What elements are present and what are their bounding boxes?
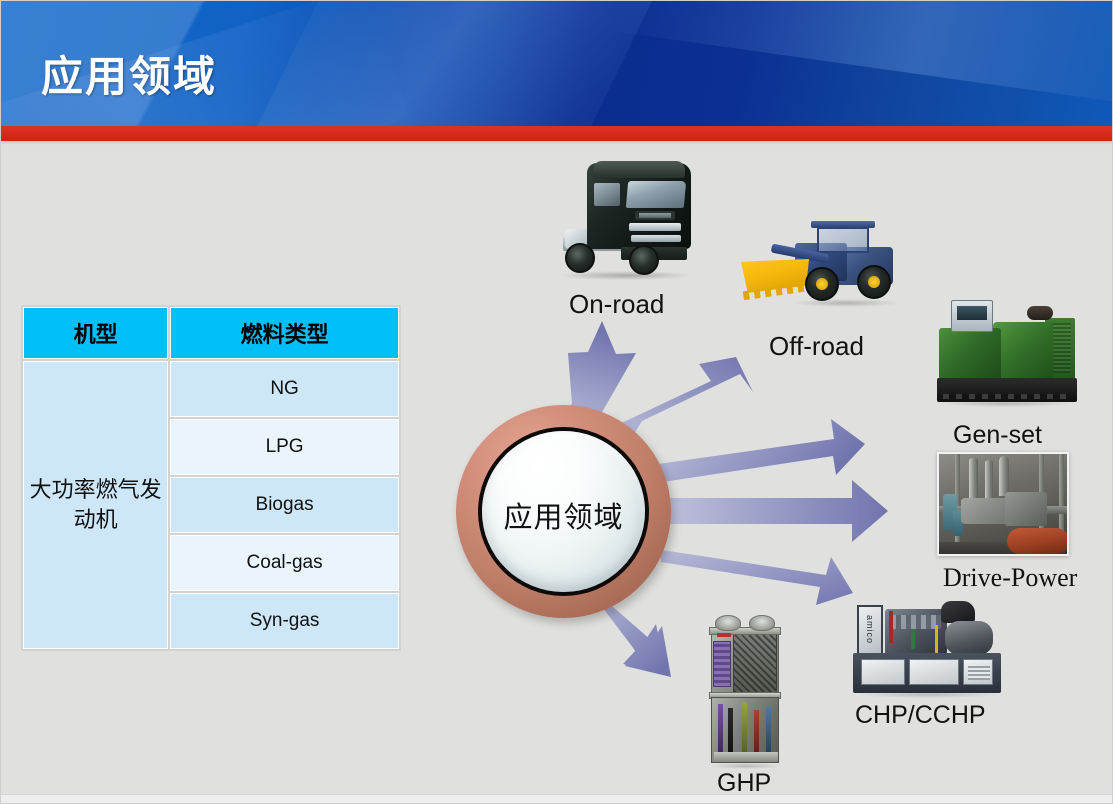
arrow-to-gen-set — [658, 419, 865, 487]
ghp-component-3 — [742, 702, 747, 754]
chp-panel-3 — [963, 659, 993, 685]
genset-alternator — [939, 328, 1001, 380]
cell-fuel-lpg: LPG — [170, 419, 399, 475]
genset-engine — [993, 322, 1053, 380]
chp-control-cabinet — [857, 605, 883, 655]
arrow-to-chp-cchp — [659, 539, 853, 605]
loader-wheel-front — [805, 267, 839, 301]
slide-canvas: 应用领域 机型 燃料类型 大功率燃气发动机 NG LPG Biogas Coal… — [0, 0, 1113, 804]
label-drive-power: Drive-Power — [943, 563, 1077, 593]
truck-wheel-rear — [565, 243, 595, 273]
label-on-road: On-road — [569, 289, 664, 320]
ghp-condenser-mesh — [733, 631, 777, 693]
table-header-engine-type: 机型 — [23, 307, 168, 359]
label-ghp: GHP — [717, 769, 771, 798]
ghp-fan-1 — [715, 615, 741, 631]
chp-unit-photo — [853, 599, 1001, 697]
loader-wheel-rear — [857, 265, 891, 299]
header-red-stripe — [1, 126, 1113, 141]
slide-bottom-edge — [1, 794, 1113, 804]
genset-exhaust — [1027, 306, 1053, 320]
page-title: 应用领域 — [41, 43, 217, 104]
label-gen-set: Gen-set — [953, 421, 1042, 450]
table-header-fuel-type: 燃料类型 — [170, 307, 399, 359]
truck-roof-fairing — [593, 161, 685, 178]
table-header-row: 机型 燃料类型 — [23, 307, 399, 359]
chp-cylinder-head — [891, 615, 941, 629]
label-chp-cchp: CHP/CCHP — [855, 701, 986, 730]
ghp-base-tray — [714, 752, 778, 762]
chp-red-hose — [889, 611, 893, 643]
drive-pipe-2 — [985, 460, 993, 502]
generator-set-photo — [935, 298, 1079, 408]
header-glint-1 — [224, 1, 678, 126]
center-hub-face: 应用领域 — [482, 431, 645, 592]
truck-grille-bar-2 — [631, 235, 681, 242]
chp-green-hose — [911, 629, 915, 649]
cell-fuel-ng: NG — [170, 361, 399, 417]
cell-fuel-biogas: Biogas — [170, 477, 399, 533]
label-off-road: Off-road — [769, 331, 864, 362]
truck-wheel-front — [629, 245, 659, 275]
engine-fuel-table: 机型 燃料类型 大功率燃气发动机 NG LPG Biogas Coal-gas … — [21, 305, 401, 651]
wheel-loader-photo — [739, 213, 909, 313]
chp-alternator — [945, 621, 993, 655]
chp-skid-base — [853, 653, 1001, 693]
loader-shadow — [793, 299, 899, 307]
chp-exhaust-manifold — [941, 601, 975, 623]
drive-gear-housing — [1005, 492, 1047, 526]
ghp-unit-photo — [707, 613, 785, 771]
ghp-red-marker — [717, 633, 731, 637]
truck-windshield — [626, 181, 686, 208]
header-glint-2 — [615, 1, 1113, 109]
ghp-fan-2 — [749, 615, 775, 631]
genset-control-panel — [951, 300, 993, 332]
drive-rust-cylinder — [1007, 528, 1069, 554]
marine-engine-photo — [937, 452, 1069, 556]
ghp-lower-section — [711, 697, 779, 763]
truck-grille-bar-1 — [629, 223, 681, 231]
ghp-component-2 — [728, 708, 733, 752]
table-row: 大功率燃气发动机 NG — [23, 361, 399, 417]
header-stripe-shadow — [1, 141, 1113, 145]
cell-fuel-syngas: Syn-gas — [170, 593, 399, 649]
chp-yellow-hose — [935, 625, 938, 653]
arrow-to-drive-power — [663, 480, 888, 542]
genset-base-frame — [937, 378, 1077, 402]
center-hub-label: 应用领域 — [503, 494, 623, 536]
cell-fuel-coalgas: Coal-gas — [170, 535, 399, 591]
truck-side-window — [594, 183, 620, 206]
center-hub-node: 应用领域 — [456, 405, 671, 618]
ghp-component-1 — [718, 704, 723, 752]
loader-cab — [817, 227, 869, 253]
ghp-component-4 — [754, 710, 759, 752]
ghp-coil-stack — [713, 641, 731, 687]
chp-panel-2 — [909, 659, 959, 685]
cell-engine-type: 大功率燃气发动机 — [23, 361, 168, 649]
drive-pipe-3 — [999, 456, 1009, 496]
ghp-component-5 — [766, 706, 771, 752]
truck-badge — [635, 211, 675, 220]
truck-photo — [549, 159, 709, 284]
chp-panel-1 — [861, 659, 905, 685]
